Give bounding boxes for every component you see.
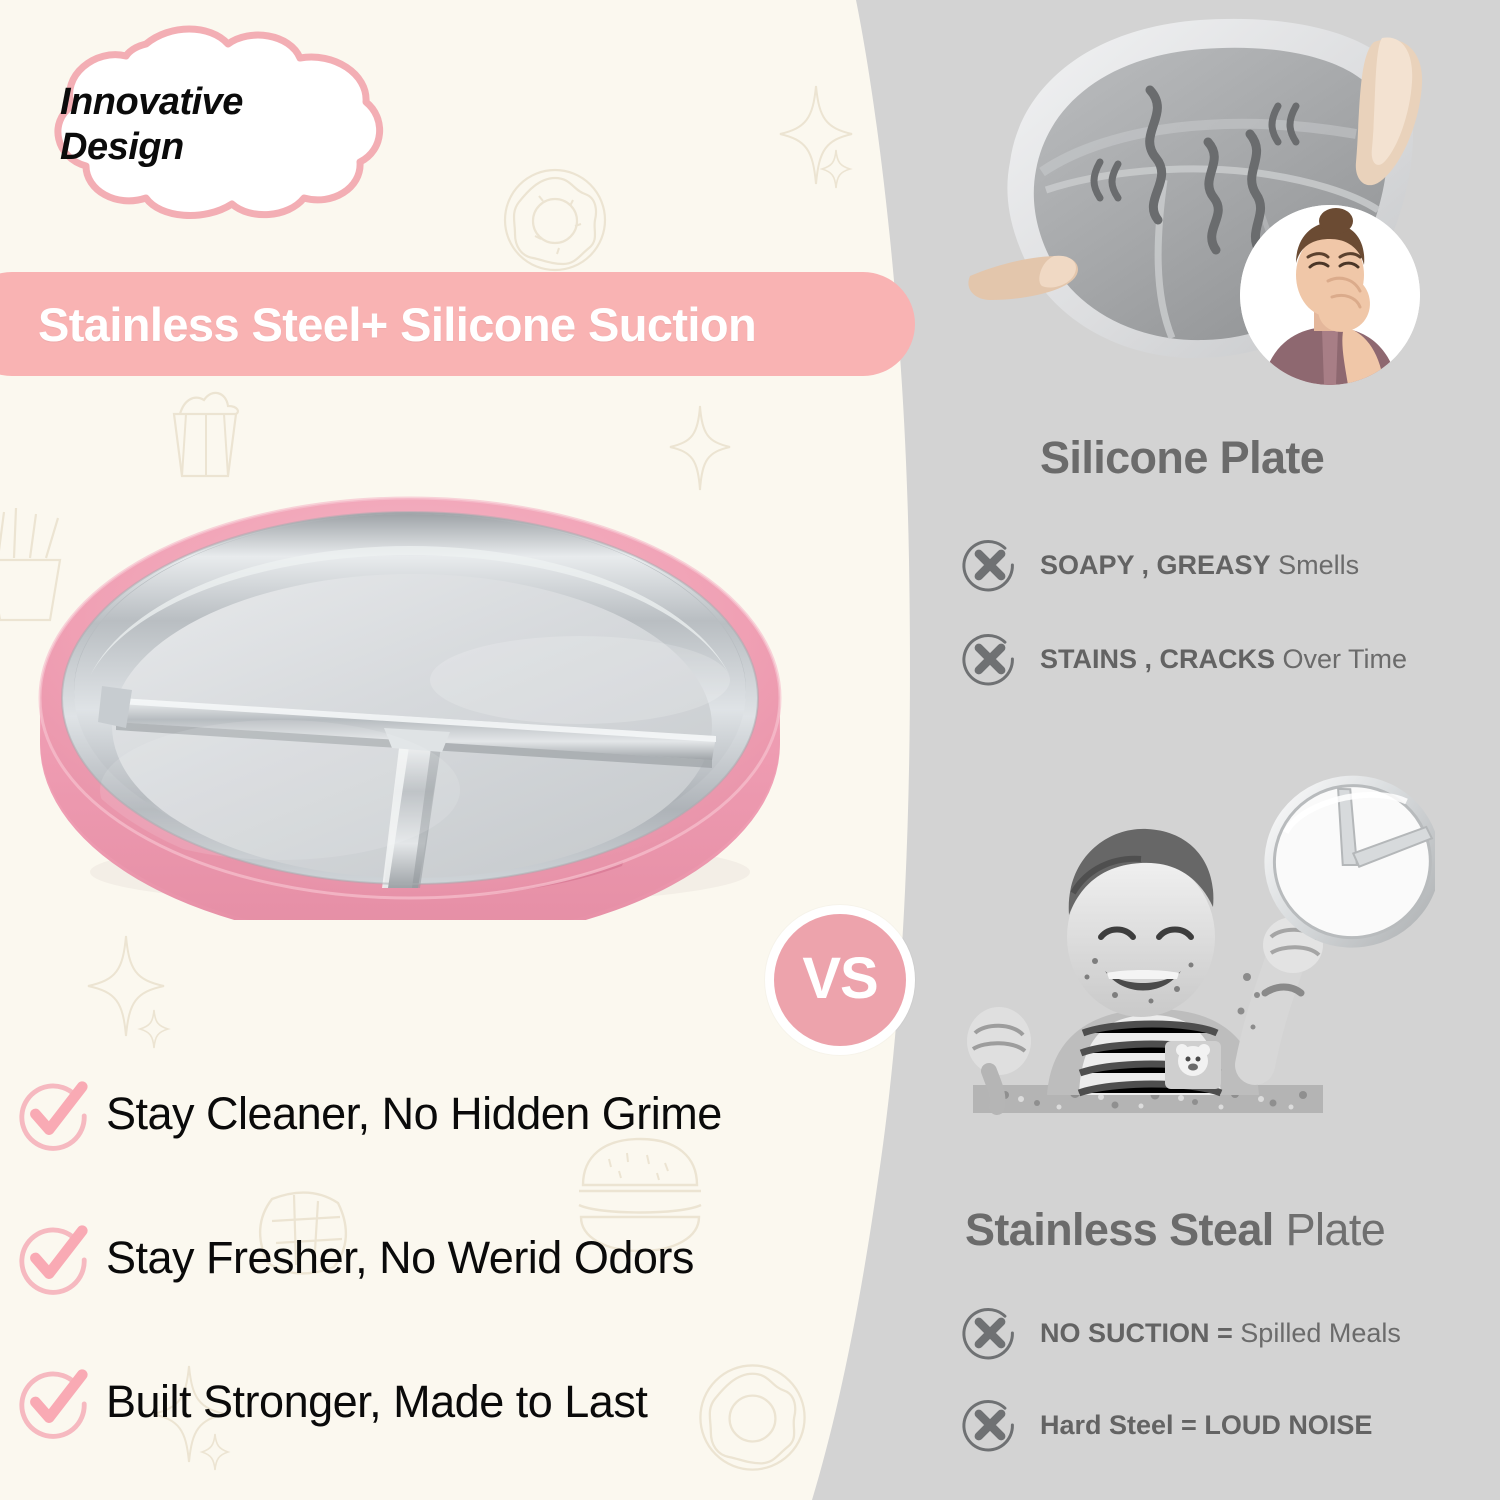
con-rest: Over Time [1283, 644, 1408, 674]
benefits-list: Stay Cleaner, No Hidden Grime Stay Fresh… [14, 1058, 824, 1458]
list-item: NO SUCTION = Spilled Meals [962, 1305, 1401, 1361]
benefit-label: Stay Fresher, No Werid Odors [106, 1232, 694, 1284]
list-item: STAINS , CRACKS Over Time [962, 631, 1407, 687]
check-circle-icon [14, 1219, 92, 1297]
headline-banner-label: Stainless Steel+ Silicone Suction [38, 297, 756, 352]
benefit-label: Built Stronger, Made to Last [106, 1376, 647, 1428]
woman-pinching-nose-photo [1240, 205, 1420, 385]
innovative-design-text: Innovative Design [38, 22, 398, 222]
x-circle-icon [962, 537, 1018, 593]
con-label: STAINS , CRACKS Over Time [1040, 644, 1407, 675]
toddler-with-steel-plate-photo [955, 765, 1435, 1185]
vs-badge-label: VS [802, 945, 877, 1012]
list-item: Hard Steel = LOUD NOISE [962, 1397, 1372, 1453]
con-rest: Smells [1278, 550, 1359, 580]
benefit-label: Stay Cleaner, No Hidden Grime [106, 1088, 722, 1140]
list-item: Built Stronger, Made to Last [14, 1346, 824, 1458]
headline-banner: Stainless Steel+ Silicone Suction [0, 272, 915, 376]
divided-plate-illustration [0, 440, 840, 920]
bent-silicone-plate-illustration [950, 0, 1500, 414]
con-label: SOAPY , GREASY Smells [1040, 550, 1359, 581]
toddler-photo-illustration [955, 765, 1435, 1185]
product-plate-photo [0, 440, 840, 920]
infographic-canvas: Innovative Design Stainless Steel+ Silic… [0, 0, 1500, 1500]
badge-line-1: Innovative [60, 80, 398, 125]
check-circle-icon [14, 1075, 92, 1153]
con-label: Hard Steel = LOUD NOISE [1040, 1410, 1372, 1441]
x-circle-icon [962, 1305, 1018, 1361]
silicone-plate-photo [950, 0, 1500, 414]
badge-line-2: Design [60, 125, 398, 170]
con-strong: SOAPY , GREASY [1040, 550, 1271, 580]
con-strong: Hard Steel = LOUD NOISE [1040, 1410, 1372, 1440]
list-item: SOAPY , GREASY Smells [962, 537, 1359, 593]
x-circle-icon [962, 1397, 1018, 1453]
stainless-steel-plate-heading: Stainless Steal Plate [965, 1204, 1385, 1256]
con-strong: NO SUCTION = [1040, 1318, 1233, 1348]
vs-badge: VS [765, 905, 915, 1055]
steel-heading-strong: Stainless Steal [965, 1204, 1274, 1255]
innovative-design-badge: Innovative Design [38, 22, 398, 222]
list-item: Stay Fresher, No Werid Odors [14, 1202, 824, 1314]
x-circle-icon [962, 631, 1018, 687]
con-strong: STAINS , CRACKS [1040, 644, 1275, 674]
check-circle-icon [14, 1363, 92, 1441]
silicone-plate-heading: Silicone Plate [1040, 432, 1324, 484]
list-item: Stay Cleaner, No Hidden Grime [14, 1058, 824, 1170]
steel-heading-light: Plate [1286, 1204, 1386, 1255]
con-label: NO SUCTION = Spilled Meals [1040, 1318, 1401, 1349]
woman-pinching-nose-inset [1240, 205, 1420, 385]
con-rest: Spilled Meals [1240, 1318, 1401, 1348]
